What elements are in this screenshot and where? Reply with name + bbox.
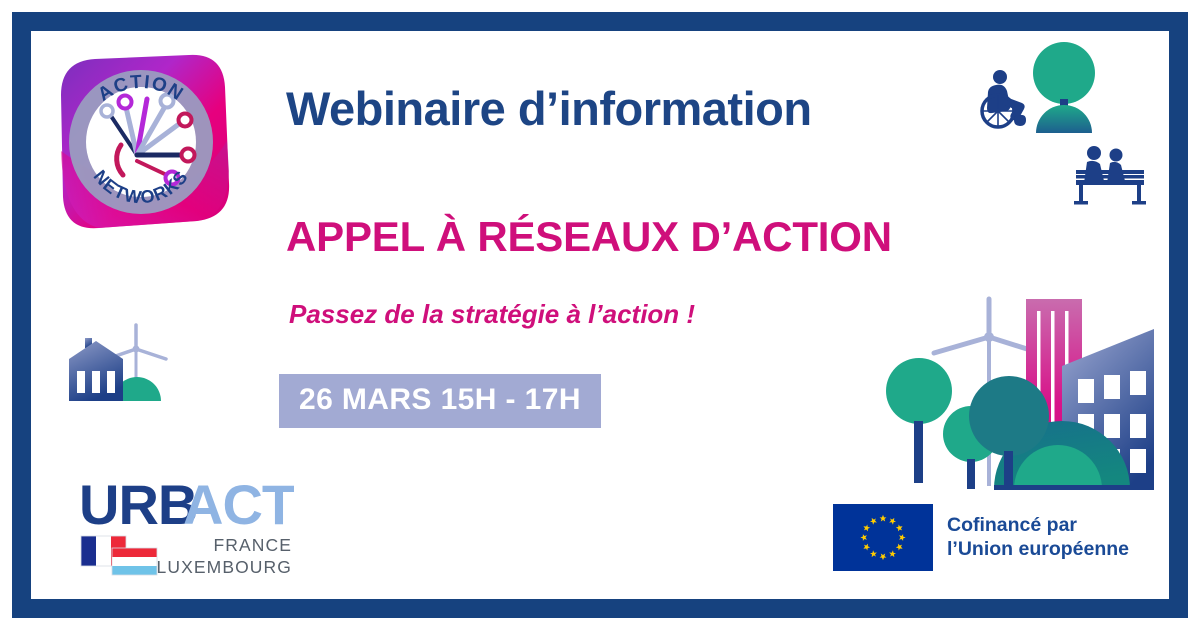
- tree-on-hill-icon: [1033, 42, 1095, 133]
- page-subtitle: APPEL À RÉSEAUX D’ACTION: [286, 213, 892, 261]
- urbact-logo: URB ACT FRANCE LUXEMBOURG: [79, 472, 294, 577]
- house-icon: [69, 338, 123, 401]
- urbact-part-two: ACT: [183, 473, 294, 536]
- page-title: Webinaire d’information: [286, 81, 812, 136]
- poster-root: ACTION NETWORKS Webinaire d’information …: [0, 0, 1200, 630]
- urbact-country-line-1: FRANCE: [213, 535, 292, 555]
- top-right-illustration: [976, 33, 1151, 213]
- eu-text-line-2: l’Union européenne: [947, 538, 1129, 562]
- page-tagline: Passez de la stratégie à l’action !: [289, 299, 695, 330]
- people-on-bench-icon: [1074, 146, 1146, 205]
- eu-text-line-1: Cofinancé par: [947, 514, 1129, 538]
- urbact-country-line-2: LUXEMBOURG: [157, 557, 292, 577]
- poster-canvas: ACTION NETWORKS Webinaire d’information …: [31, 31, 1169, 599]
- urbact-part-one: URB: [79, 473, 197, 536]
- action-networks-logo: ACTION NETWORKS: [51, 51, 231, 236]
- eu-flag-icon: [833, 504, 933, 571]
- house-illustration: [63, 319, 188, 414]
- luxembourg-flag: [112, 548, 157, 575]
- eu-cofunding-logo: Cofinancé par l’Union européenne: [833, 504, 1129, 571]
- tree-icon: [886, 358, 952, 483]
- date-badge: 26 MARS 15H - 17H: [279, 374, 601, 428]
- eu-text-block: Cofinancé par l’Union européenne: [947, 514, 1129, 562]
- city-illustration: [886, 271, 1161, 506]
- wheelchair-user-icon: [982, 70, 1026, 127]
